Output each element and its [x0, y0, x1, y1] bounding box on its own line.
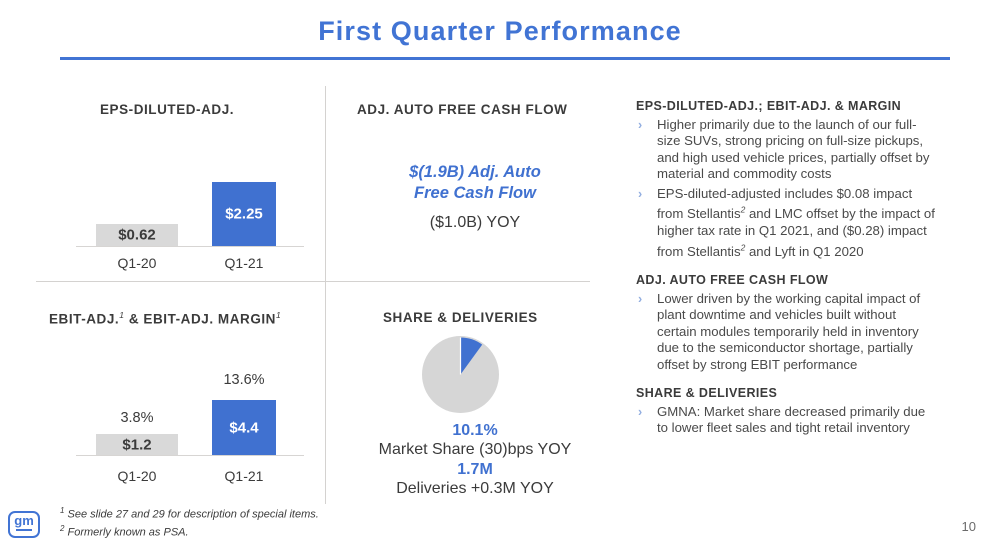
ebit-bar-q1-20: $1.2: [96, 434, 178, 455]
footnote-line: 2 Formerly known as PSA.: [60, 522, 319, 540]
deliveries-caption: Deliveries +0.3M YOY: [340, 480, 610, 498]
chevron-right-icon: ›: [638, 291, 642, 307]
ebit-bar-q1-20-value: $1.2: [96, 436, 178, 453]
ebit-bar-q1-21: $4.4: [212, 400, 276, 455]
page-title: First Quarter Performance: [0, 16, 1000, 47]
horizontal-divider: [36, 281, 590, 282]
ebit-heading-part2: & EBIT-ADJ. MARGIN: [129, 312, 276, 327]
pie-slice-market-share: [422, 336, 499, 413]
fcf-yoy-value: ($1.0B) YOY: [340, 214, 610, 232]
eps-chart-baseline: [76, 246, 304, 247]
ebit-margin-q1-21: 13.6%: [212, 372, 276, 388]
eps-category-q1-20: Q1-20: [96, 255, 178, 271]
commentary-section-heading: SHARE & DELIVERIES: [636, 386, 936, 400]
ebit-panel-heading: EBIT-ADJ.1 & EBIT-ADJ. MARGIN1: [49, 310, 281, 327]
deliveries-value: 1.7M: [340, 461, 610, 479]
share-panel-heading: SHARE & DELIVERIES: [383, 310, 538, 325]
eps-panel-heading: EPS-DILUTED-ADJ.: [100, 102, 234, 117]
gm-logo-underline: [16, 529, 32, 531]
commentary-bullet: ›Higher primarily due to the launch of o…: [636, 117, 936, 183]
market-share-caption: Market Share (30)bps YOY: [340, 441, 610, 459]
title-underline-rule: [60, 57, 950, 60]
ebit-bar-q1-21-value: $4.4: [212, 419, 276, 436]
eps-bar-q1-21: $2.25: [212, 182, 276, 246]
footnote-text: See slide 27 and 29 for description of s…: [64, 509, 318, 521]
ebit-chart-baseline: [76, 455, 304, 456]
fcf-panel-heading: ADJ. AUTO FREE CASH FLOW: [357, 102, 567, 117]
eps-bar-q1-20: $0.62: [96, 224, 178, 246]
page-number: 10: [962, 519, 976, 534]
eps-bar-q1-20-value: $0.62: [96, 227, 178, 244]
market-share-pie-chart: [422, 336, 499, 413]
slide-canvas: First Quarter Performance EPS-DILUTED-AD…: [0, 0, 1000, 547]
commentary-bullet-text: Lower driven by the working capital impa…: [657, 291, 920, 372]
footnotes: 1 See slide 27 and 29 for description of…: [60, 504, 319, 540]
footnote-line: 1 See slide 27 and 29 for description of…: [60, 504, 319, 522]
fcf-main-line2: Free Cash Flow: [340, 183, 610, 204]
chevron-right-icon: ›: [638, 186, 642, 202]
eps-bar-q1-21-value: $2.25: [212, 206, 276, 223]
commentary-bullet: ›GMNA: Market share decreased primarily …: [636, 404, 936, 437]
gm-logo-text: gm: [10, 514, 38, 528]
fcf-main-line1: $(1.9B) Adj. Auto: [340, 162, 610, 183]
commentary-bullet-text: Higher primarily due to the launch of ou…: [657, 117, 929, 181]
commentary-bullet: ›Lower driven by the working capital imp…: [636, 291, 936, 373]
commentary-bullet-text: EPS-diluted-adjusted includes $0.08 impa…: [657, 186, 935, 259]
footnote-text: Formerly known as PSA.: [64, 527, 188, 539]
ebit-category-q1-20: Q1-20: [96, 468, 178, 484]
commentary-bullet: ›EPS-diluted-adjusted includes $0.08 imp…: [636, 186, 936, 260]
chevron-right-icon: ›: [638, 404, 642, 420]
commentary-bullet-text: GMNA: Market share decreased primarily d…: [657, 404, 925, 435]
commentary-section: EPS-DILUTED-ADJ.; EBIT-ADJ. & MARGIN›Hig…: [636, 99, 936, 260]
gm-logo: gm: [8, 511, 40, 538]
eps-category-q1-21: Q1-21: [212, 255, 276, 271]
ebit-heading-sup2: 1: [276, 310, 281, 320]
commentary-section: ADJ. AUTO FREE CASH FLOW›Lower driven by…: [636, 273, 936, 373]
vertical-divider: [325, 86, 326, 504]
ebit-heading-sup1: 1: [119, 310, 124, 320]
ebit-heading-part1: EBIT-ADJ.: [49, 312, 119, 327]
commentary-column: EPS-DILUTED-ADJ.; EBIT-ADJ. & MARGIN›Hig…: [636, 99, 936, 450]
commentary-section: SHARE & DELIVERIES›GMNA: Market share de…: [636, 386, 936, 437]
ebit-category-q1-21: Q1-21: [212, 468, 276, 484]
commentary-section-heading: EPS-DILUTED-ADJ.; EBIT-ADJ. & MARGIN: [636, 99, 936, 113]
commentary-section-heading: ADJ. AUTO FREE CASH FLOW: [636, 273, 936, 287]
ebit-margin-q1-20: 3.8%: [96, 410, 178, 426]
fcf-main-value: $(1.9B) Adj. Auto Free Cash Flow: [340, 162, 610, 204]
market-share-value: 10.1%: [340, 422, 610, 440]
chevron-right-icon: ›: [638, 117, 642, 133]
